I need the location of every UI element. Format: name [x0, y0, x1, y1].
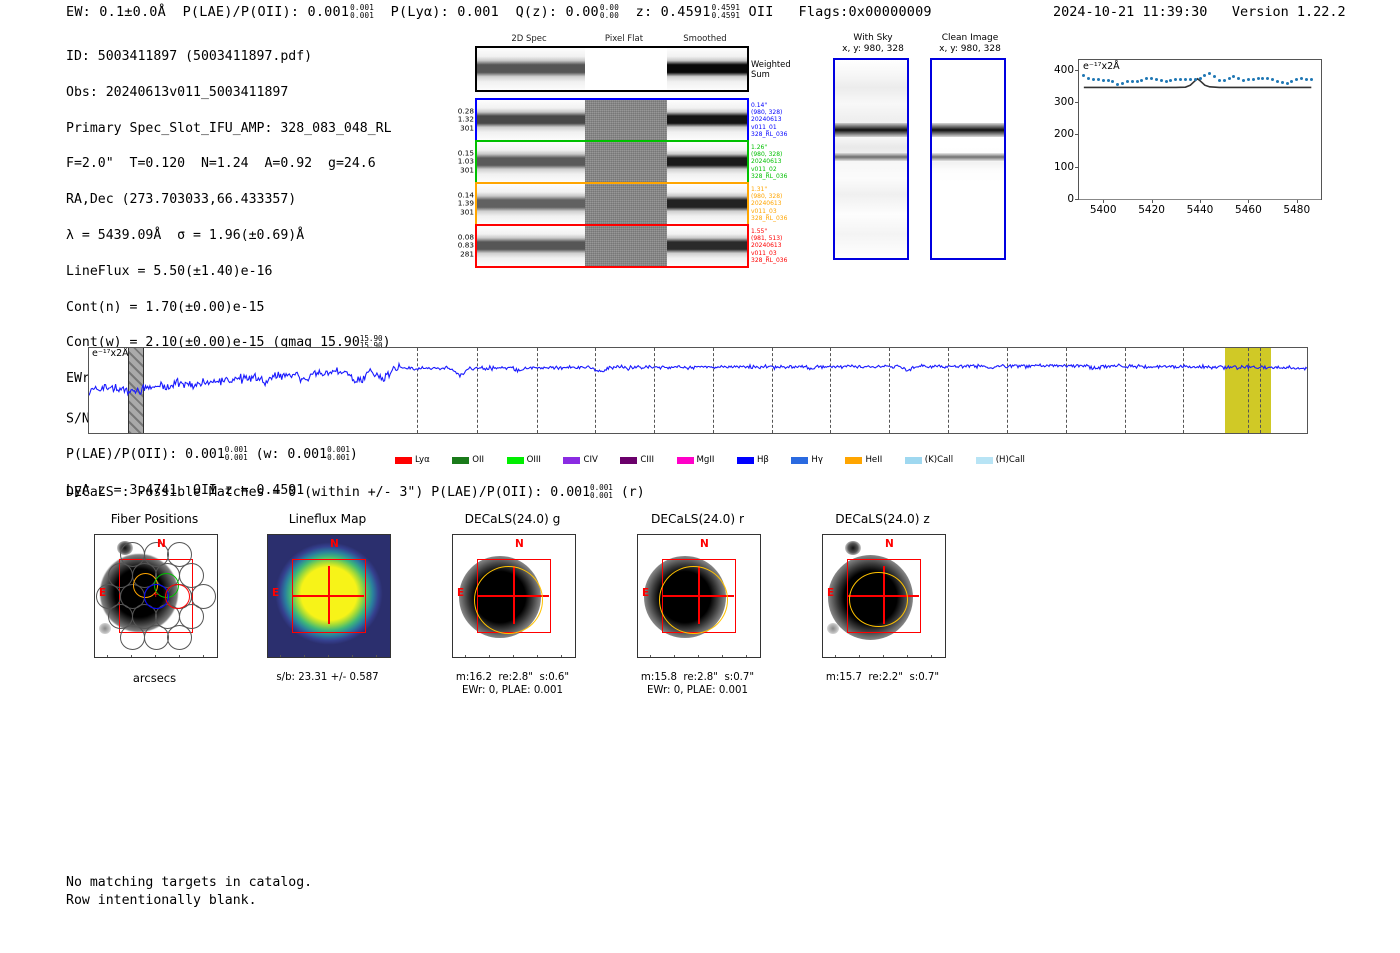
- header-timestamp-version: 2024-10-21 11:39:30 Version 1.22.2: [1053, 4, 1346, 20]
- zoom-ytick-100: 100: [1054, 161, 1074, 173]
- header-qz: Q(z): 0.00: [516, 4, 599, 20]
- decals-xtick-mark: [513, 655, 514, 658]
- decals-ytick-mark: [267, 619, 268, 620]
- decals-xtick-mark: [859, 655, 860, 658]
- legend-item-(H)Call: (H)Call: [976, 455, 1025, 465]
- main-xtick-mark: [636, 433, 637, 434]
- cutout-image-with-sky: [833, 58, 909, 260]
- spec2d-exposure-row-0: 0.28 1.32 3010.14" (980, 328) 20240613 v…: [475, 98, 749, 142]
- decals-xtick-mark: [746, 655, 747, 658]
- decals-ytick-mark: [452, 619, 453, 620]
- exposure-stats-2: 0.14 1.39 301: [458, 192, 474, 217]
- legend-label-OII: OII: [472, 455, 484, 465]
- legend-swatch-Hγ: [791, 457, 808, 464]
- decals-xtick-mark: [931, 655, 932, 658]
- compass-north: N: [885, 538, 894, 550]
- emission-line-label-9: OII (: [514, 347, 523, 348]
- legend-item-Lyα: Lyα: [395, 455, 430, 465]
- zoom-xtick-5420: 5420: [1138, 204, 1165, 216]
- legend-swatch-Lyα: [395, 457, 412, 464]
- zoom-data-point: [1252, 78, 1255, 81]
- weighted-sum-label: Weighted Sum: [751, 59, 791, 79]
- zoom-data-point: [1160, 79, 1163, 82]
- decals-ytick-mark: [267, 571, 268, 572]
- main-plot-frame: e⁻¹⁷x2Å 20040035003600370038003900400041…: [88, 347, 1308, 434]
- zoom-zero-line: [1079, 199, 1321, 200]
- zoom-data-point: [1223, 79, 1226, 82]
- decals-xtick-mark: [650, 655, 651, 658]
- emission-line-label-18: CIV (: [759, 347, 768, 348]
- source-ellipse: [659, 566, 728, 634]
- zoom-data-point: [1271, 78, 1274, 81]
- main-xtick-mark: [1283, 433, 1284, 434]
- header-qz-range: 0.000.00: [600, 4, 619, 19]
- zoom-data-point: [1276, 80, 1279, 83]
- header-z-species: OII: [749, 4, 774, 20]
- legend-item-OII: OII: [452, 455, 484, 465]
- main-xtick-mark: [519, 433, 520, 434]
- meta-id: ID: 5003411897 (5003411897.pdf): [66, 48, 392, 66]
- emission-line-label-6: MgII (: [409, 347, 418, 348]
- fiber-circle: [144, 625, 169, 650]
- zoom-data-point: [1257, 77, 1260, 80]
- main-xtick-mark: [1107, 433, 1108, 434]
- legend-swatch-(K)Call: [905, 457, 922, 464]
- zoom-xtick-5400: 5400: [1090, 204, 1117, 216]
- spec2d-column-title-0: 2D Spec: [489, 34, 569, 44]
- emission-line-label-37: OIII (: [1248, 347, 1257, 348]
- decals-ytick-mark: [267, 595, 268, 596]
- zoom-data-point: [1131, 80, 1134, 83]
- emission-line-label-32: OII (: [1190, 347, 1199, 348]
- main-xtick-mark: [224, 433, 225, 434]
- legend-swatch-HeII: [845, 457, 862, 464]
- emission-line-label-31: CIV (: [1178, 347, 1187, 348]
- decals-header-text: DECaLS : Possible Matches = 0 (within +/…: [66, 485, 590, 500]
- header-ew: EW: 0.1±0.0Å: [66, 4, 166, 20]
- crosshair-vertical: [328, 566, 330, 624]
- zoom-data-point: [1116, 83, 1119, 86]
- emission-line-label-38: OIII (: [1281, 347, 1290, 348]
- main-xtick-mark: [930, 433, 931, 434]
- decals-panel-title-fiber-positions: Fiber Positions: [62, 512, 247, 526]
- zoom-data-point: [1092, 78, 1095, 81]
- decals-xlabel-fiber-positions: arcsecs: [62, 672, 247, 685]
- decals-ytick-mark: [822, 619, 823, 620]
- decals-panel-title-decals-g: DECaLS(24.0) g: [420, 512, 605, 526]
- main-xtick-mark: [695, 433, 696, 434]
- weighted-sum-smoothed: [667, 48, 747, 90]
- decals-xtick-mark: [674, 655, 675, 658]
- emission-line-label-21: OVI (: [889, 347, 898, 348]
- compass-north: N: [330, 538, 339, 550]
- exposure-smoothed-0: [667, 100, 747, 140]
- spec2d-weighted-sum-row: Weighted Sum: [475, 46, 749, 92]
- decals-ytick-mark: [94, 643, 95, 644]
- main-xtick-mark: [872, 433, 873, 434]
- decals-xtick-mark: [107, 655, 108, 658]
- cutout-title-with-sky: With Sky x, y: 980, 328: [823, 33, 923, 55]
- exposure-stats-1: 0.15 1.03 301: [458, 150, 474, 175]
- decals-header-band: (r): [621, 485, 645, 500]
- legend-swatch-Hβ: [737, 457, 754, 464]
- cutout-title-clean-image: Clean Image x, y: 980, 328: [920, 33, 1020, 55]
- zoom-data-point: [1310, 78, 1313, 81]
- header-plae-poii-range: 0.0010.001: [350, 4, 374, 19]
- zoom-data-point: [1126, 80, 1129, 83]
- decals-panel-lineflux-map: Lineflux Map-4-4-2-2002244NEs/b: 23.31 +…: [235, 512, 420, 712]
- decals-xtick-mark: [465, 655, 466, 658]
- weighted-sum-pixelflat: [585, 48, 667, 90]
- legend-swatch-CIV: [563, 457, 580, 464]
- main-xtick-mark: [460, 433, 461, 434]
- legend-label-MgII: MgII: [697, 455, 715, 465]
- spec2d-exposure-row-2: 0.14 1.39 3011.31" (980, 328) 20240613 v…: [475, 182, 749, 226]
- decals-xtick-mark: [352, 655, 353, 658]
- legend-item-MgII: MgII: [677, 455, 715, 465]
- fiber-circle: [120, 625, 145, 650]
- zoom-data-point: [1102, 79, 1105, 82]
- legend-item-HeII: HeII: [845, 455, 882, 465]
- highlighted-fiber: [165, 584, 190, 609]
- legend-label-CIII: CIII: [640, 455, 654, 465]
- decals-xtick-mark: [376, 655, 377, 658]
- decals-xtick-mark: [155, 655, 156, 658]
- compass-east: E: [99, 587, 106, 599]
- weighted-sum-2dspec: [477, 48, 585, 90]
- main-xtick-mark: [1166, 433, 1167, 434]
- decals-xtick-mark: [883, 655, 884, 658]
- zoom-data-point: [1199, 77, 1202, 80]
- decals-xtick-mark: [835, 655, 836, 658]
- meta-params: F=2.0" T=0.120 N=1.24 A=0.92 g=24.6: [66, 155, 392, 173]
- main-xtick-mark: [1225, 433, 1226, 434]
- main-xtick-mark: [342, 433, 343, 434]
- compass-east: E: [272, 587, 279, 599]
- decals-ytick-mark: [637, 595, 638, 596]
- emission-line-label-2: SiII (: [180, 347, 189, 348]
- emission-line-label-15: Hη (: [603, 347, 612, 348]
- decals-xtick-mark: [698, 655, 699, 658]
- decals-ytick-mark: [267, 547, 268, 548]
- zoom-xtick-5480: 5480: [1283, 204, 1310, 216]
- exposure-smoothed-2: [667, 184, 747, 224]
- zoom-ytick-400: 400: [1054, 64, 1074, 76]
- decals-caption2-decals-r: EWr: 0, PLAE: 0.001: [605, 685, 790, 698]
- decals-ytick-mark: [452, 595, 453, 596]
- decals-panel-decals-r: DECaLS(24.0) r-4-4-2-2002244NEm:15.8 re:…: [605, 512, 790, 712]
- decals-xtick-mark: [722, 655, 723, 658]
- legend-label-Hβ: Hβ: [757, 455, 769, 465]
- decals-caption2-decals-g: EWr: 0, PLAE: 0.001: [420, 685, 605, 698]
- exposure-info-3: 1.55" (981, 513) 20240613 v011_03 328_RL…: [751, 228, 787, 264]
- header-z-range: 0.45910.4591: [712, 4, 741, 19]
- decals-image-decals-z: -4-4-2-2002244NE: [822, 534, 946, 658]
- neighbor-source: [845, 541, 861, 555]
- legend-item-CIV: CIV: [563, 455, 597, 465]
- exposure-pixelflat-1: [585, 142, 667, 182]
- exposure-stats-0: 0.28 1.32 301: [458, 108, 474, 133]
- zoom-data-point: [1286, 82, 1289, 85]
- decals-ytick-mark: [637, 643, 638, 644]
- meta-radec: RA,Dec (273.703033,66.433357): [66, 191, 392, 209]
- emission-line-label-19: SiII (: [772, 347, 781, 348]
- exposure-smoothed-1: [667, 142, 747, 182]
- spec2d-column-title-1: Pixel Flat: [584, 34, 664, 44]
- exposure-info-2: 1.31" (980, 328) 20240613 v011_03 328_RL…: [751, 186, 787, 222]
- emission-line-label-7: SiIS (: [478, 347, 487, 348]
- source-ellipse: [849, 572, 907, 627]
- zoom-xtick-5460: 5460: [1235, 204, 1262, 216]
- legend-label-Lyα: Lyα: [415, 455, 430, 465]
- decals-xtick-mark: [304, 655, 305, 658]
- main-xtick-mark: [401, 433, 402, 434]
- decals-image-lineflux-map: -4-4-2-2002244NE: [267, 534, 391, 658]
- decals-header: DECaLS : Possible Matches = 0 (within +/…: [66, 484, 645, 500]
- emission-trace-band-secondary: [835, 153, 907, 161]
- zoom-data-point: [1247, 78, 1250, 81]
- legend-label-HeII: HeII: [865, 455, 882, 465]
- exposure-2dspec-0: [477, 100, 585, 140]
- neighbor-source-2: [99, 623, 111, 634]
- main-xtick-mark: [577, 433, 578, 434]
- decals-ytick-mark: [94, 595, 95, 596]
- legend-item-(K)Call: (K)Call: [905, 455, 953, 465]
- emission-trace-band: [835, 123, 907, 137]
- zoom-data-point: [1150, 77, 1153, 80]
- zoom-fit-curve: [1079, 60, 1321, 199]
- exposure-2dspec-3: [477, 226, 585, 266]
- decals-xtick-mark: [328, 655, 329, 658]
- zoom-ytick-200: 200: [1054, 128, 1074, 140]
- decals-ytick-mark: [637, 547, 638, 548]
- legend-swatch-OIII: [507, 457, 524, 464]
- emission-line-label-13: OII (: [584, 347, 593, 348]
- fiber-circle: [167, 625, 192, 650]
- zoom-spectrum-chart: e⁻¹⁷x2Å 01002003004005400542054405460548…: [1036, 55, 1326, 230]
- decals-plae-range: 0.0010.001: [590, 484, 613, 500]
- decals-ytick-mark: [637, 571, 638, 572]
- spec2d-exposure-row-1: 0.15 1.03 3011.26" (980, 328) 20240613 v…: [475, 140, 749, 184]
- legend-item-Hβ: Hβ: [737, 455, 769, 465]
- emission-line-label-3: OVI (: [205, 347, 214, 348]
- zoom-data-point: [1218, 79, 1221, 82]
- decals-xtick-mark: [489, 655, 490, 658]
- emission-line-label-1: NV (: [129, 347, 138, 348]
- main-xtick-mark: [1048, 433, 1049, 434]
- compass-north: N: [157, 538, 166, 550]
- emission-line-label-20: CII (: [825, 347, 834, 348]
- source-ellipse: [474, 566, 543, 634]
- main-xtick-mark: [283, 433, 284, 434]
- zoom-data-point: [1281, 81, 1284, 84]
- main-exponent-label: e⁻¹⁷x2Å: [92, 348, 129, 359]
- legend-label-Hγ: Hγ: [811, 455, 823, 465]
- emission-line-label-12: NV (: [552, 347, 561, 348]
- target-marker: +: [152, 592, 158, 598]
- timestamp-text: 2024-10-21 11:39:30: [1053, 4, 1207, 20]
- header-summary-line: EW: 0.1±0.0Å P(LAE)/P(OII): 0.0010.0010.…: [66, 4, 932, 20]
- legend-swatch-OII: [452, 457, 469, 464]
- decals-ytick-mark: [822, 571, 823, 572]
- emission-line-label-11: MgII (: [535, 347, 544, 348]
- emission-line-label-28: SiIV (: [1078, 347, 1087, 348]
- spec2d-column-title-2: Smoothed: [665, 34, 745, 44]
- meta-lambda-sigma: λ = 5439.09Å σ = 1.96(±0.69)Å: [66, 227, 392, 245]
- compass-east: E: [827, 587, 834, 599]
- legend-label-OIII: OIII: [527, 455, 541, 465]
- header-plya: P(Lyα): 0.001: [391, 4, 499, 20]
- decals-xtick-mark: [179, 655, 180, 658]
- emission-trace-band: [932, 123, 1004, 137]
- cutout-image-clean-image: [930, 58, 1006, 260]
- zoom-data-point: [1155, 78, 1158, 81]
- zoom-data-point: [1121, 82, 1124, 85]
- emission-line-label-17: NV (: [714, 347, 723, 348]
- decals-image-decals-g: -4-4-2-2002244NE: [452, 534, 576, 658]
- decals-panel-decals-z: DECaLS(24.0) z-4-4-2-2002244NEm:15.7 re:…: [790, 512, 975, 712]
- exposure-2dspec-1: [477, 142, 585, 182]
- decals-xtick-mark: [561, 655, 562, 658]
- main-xtick-mark: [989, 433, 990, 434]
- header-plae-poii: P(LAE)/P(OII): 0.001: [183, 4, 350, 20]
- exposure-stats-3: 0.08 0.83 281: [458, 234, 474, 259]
- decals-xtick-mark: [280, 655, 281, 658]
- spectrum-legend: LyαOIIOIIICIVCIIIMgIIHβHγHeII(K)Call(H)C…: [395, 455, 1025, 465]
- decals-ytick-mark: [452, 547, 453, 548]
- meta-obs: Obs: 20240613v011_5003411897: [66, 84, 392, 102]
- legend-item-CIII: CIII: [620, 455, 654, 465]
- zoom-plot-frame: e⁻¹⁷x2Å 01002003004005400542054405460548…: [1078, 59, 1322, 200]
- spec2d-panel: 2D SpecPixel FlatSmoothedWeighted Sum0.2…: [440, 34, 770, 262]
- zoom-data-point: [1194, 78, 1197, 81]
- header-z: z: 0.4591: [636, 4, 711, 20]
- emission-line-label-23: HeII (: [930, 347, 939, 348]
- decals-xtick-mark: [537, 655, 538, 658]
- legend-swatch-CIII: [620, 457, 637, 464]
- emission-line-label-36: Hβ (: [1231, 347, 1240, 348]
- zoom-xtick-5440: 5440: [1187, 204, 1214, 216]
- zoom-data-point: [1228, 77, 1231, 80]
- legend-item-Hγ: Hγ: [791, 455, 823, 465]
- version-text: Version 1.22.2: [1232, 4, 1346, 20]
- exposure-pixelflat-2: [585, 184, 667, 224]
- decals-panel-fiber-positions: Fiber Positions+-4-4-2-2002244NEarcsecs: [62, 512, 247, 712]
- decals-caption-decals-z: m:15.7 re:2.2" s:0.7": [790, 672, 975, 685]
- decals-xtick-mark: [203, 655, 204, 658]
- neighbor-source-2: [827, 623, 839, 634]
- decals-panel-decals-g: DECaLS(24.0) g-4-4-2-2002244NEm:16.2 re:…: [420, 512, 605, 712]
- zoom-data-point: [1107, 79, 1110, 82]
- exposure-2dspec-2: [477, 184, 585, 224]
- zoom-data-point: [1208, 72, 1211, 75]
- decals-panel-title-decals-r: DECaLS(24.0) r: [605, 512, 790, 526]
- legend-swatch-MgII: [677, 457, 694, 464]
- zoom-data-point: [1213, 75, 1216, 78]
- exposure-pixelflat-3: [585, 226, 667, 266]
- zoom-data-point: [1305, 78, 1308, 81]
- decals-ytick-mark: [822, 643, 823, 644]
- main-xtick-mark: [754, 433, 755, 434]
- main-xtick-mark: [107, 433, 108, 434]
- zoom-data-point: [1165, 80, 1168, 83]
- decals-ytick-mark: [822, 547, 823, 548]
- spec2d-exposure-row-3: 0.08 0.83 2811.55" (981, 513) 20240613 v…: [475, 224, 749, 268]
- meta-lineflux: LineFlux = 5.50(±1.40)e-16: [66, 263, 392, 281]
- compass-east: E: [642, 587, 649, 599]
- exposure-info-1: 1.26" (980, 328) 20240613 v011_02 328_RL…: [751, 144, 787, 180]
- compass-east: E: [457, 587, 464, 599]
- main-xtick-mark: [813, 433, 814, 434]
- decals-ytick-mark: [452, 643, 453, 644]
- decals-image-decals-r: -4-4-2-2002244NE: [637, 534, 761, 658]
- zoom-ytick-0: 0: [1067, 193, 1074, 205]
- main-spectrum-trace: [89, 348, 1307, 433]
- compass-north: N: [700, 538, 709, 550]
- emission-trace-band-secondary: [932, 153, 1004, 161]
- decals-caption-decals-g: m:16.2 re:2.8" s:0.6": [420, 672, 605, 685]
- exposure-smoothed-3: [667, 226, 747, 266]
- legend-item-OIII: OIII: [507, 455, 541, 465]
- header-flags: Flags:0x00000009: [799, 4, 932, 20]
- emission-line-label-5: MgII (: [379, 347, 388, 348]
- decals-ytick-mark: [452, 571, 453, 572]
- decals-ytick-mark: [822, 595, 823, 596]
- decals-xtick-mark: [907, 655, 908, 658]
- zoom-ytick-300: 300: [1054, 96, 1074, 108]
- decals-panel-title-decals-z: DECaLS(24.0) z: [790, 512, 975, 526]
- decals-image-fiber-positions: +-4-4-2-2002244NE: [94, 534, 218, 658]
- decals-ytick-mark: [94, 547, 95, 548]
- full-spectrum-chart: e⁻¹⁷x2Å 20040035003600370038003900400041…: [88, 282, 1308, 462]
- exposure-pixelflat-0: [585, 100, 667, 140]
- decals-panel-title-lineflux-map: Lineflux Map: [235, 512, 420, 526]
- decals-caption-decals-r: m:15.8 re:2.8" s:0.7": [605, 672, 790, 685]
- decals-caption-lineflux-map: s/b: 23.31 +/- 0.587: [235, 672, 420, 685]
- decals-ytick-mark: [94, 619, 95, 620]
- zoom-data-point: [1087, 77, 1090, 80]
- exposure-info-0: 0.14" (980, 328) 20240613 v011_01 328_RL…: [751, 102, 787, 138]
- emission-line-label-29: OII (: [1156, 347, 1165, 348]
- meta-primary-slot: Primary Spec_Slot_IFU_AMP: 328_083_048_R…: [66, 120, 392, 138]
- legend-label-(K)Call: (K)Call: [925, 455, 953, 465]
- decals-ytick-mark: [267, 643, 268, 644]
- decals-xtick-mark: [131, 655, 132, 658]
- decals-ytick-mark: [637, 619, 638, 620]
- legend-label-CIV: CIV: [583, 455, 597, 465]
- main-xtick-mark: [165, 433, 166, 434]
- legend-swatch-(H)Call: [976, 457, 993, 464]
- decals-ytick-mark: [94, 571, 95, 572]
- footer-note: No matching targets in catalog. Row inte…: [66, 874, 312, 909]
- compass-north: N: [515, 538, 524, 550]
- legend-label-(H)Call: (H)Call: [996, 455, 1025, 465]
